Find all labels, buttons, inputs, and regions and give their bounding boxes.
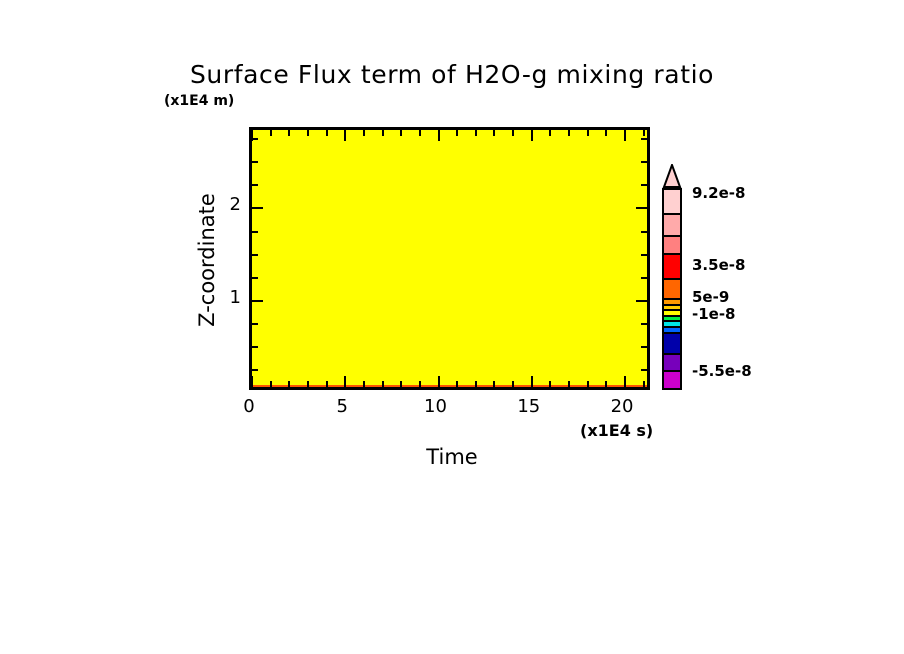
x-tick-top (512, 130, 514, 136)
y-tick-right (641, 277, 647, 279)
y-tick-major (252, 300, 263, 302)
x-tick-minor (382, 381, 384, 387)
y-tick-right (641, 323, 647, 325)
x-tick-top (456, 130, 458, 136)
colorbar-tick-label: 3.5e-8 (692, 256, 745, 274)
x-tick-major (438, 376, 440, 387)
x-tick-label: 20 (592, 396, 652, 417)
x-tick-major (251, 376, 253, 387)
x-tick-top (475, 130, 477, 136)
colorbar-tick-label: 5e-9 (692, 288, 729, 306)
y-tick-right (636, 207, 647, 209)
plot-area (249, 127, 650, 390)
y-tick-minor (252, 161, 258, 163)
x-tick-top (568, 130, 570, 136)
x-tick-minor (568, 381, 570, 387)
x-tick-label: 15 (499, 396, 559, 417)
y-axis-units-label: (x1E4 m) (164, 93, 234, 109)
x-tick-top (400, 130, 402, 136)
x-tick-major (344, 376, 346, 387)
y-tick-right (641, 369, 647, 371)
y-tick-minor (252, 369, 258, 371)
colorbar-tick-label: 9.2e-8 (692, 184, 745, 202)
y-tick-right (641, 254, 647, 256)
x-axis-units-label: (x1E4 s) (580, 421, 653, 440)
y-tick-right (641, 231, 647, 233)
x-tick-top (344, 130, 346, 141)
x-tick-minor (363, 381, 365, 387)
x-tick-top (624, 130, 626, 141)
x-tick-top (382, 130, 384, 136)
x-tick-minor (493, 381, 495, 387)
colorbar-arrow-icon (662, 164, 682, 188)
x-tick-major (531, 376, 533, 387)
y-tick-minor (252, 184, 258, 186)
x-tick-top (531, 130, 533, 141)
x-tick-minor (307, 381, 309, 387)
x-tick-top (419, 130, 421, 136)
colorbar-bands (662, 188, 682, 390)
colorbar-band (664, 280, 680, 300)
x-tick-minor (549, 381, 551, 387)
x-tick-minor (419, 381, 421, 387)
x-tick-top (326, 130, 328, 136)
x-tick-top (605, 130, 607, 136)
x-tick-label: 0 (219, 396, 279, 417)
colorbar-band (664, 255, 680, 280)
y-axis-title-text: Z-coordinate (196, 160, 218, 360)
x-tick-minor (326, 381, 328, 387)
x-tick-label: 10 (406, 396, 466, 417)
x-tick-top (643, 130, 645, 136)
colorbar-band (664, 372, 680, 388)
x-tick-minor (605, 381, 607, 387)
y-tick-minor (252, 254, 258, 256)
x-tick-minor (475, 381, 477, 387)
page-title: Surface Flux term of H2O-g mixing ratio (0, 60, 904, 89)
plot-canvas: Surface Flux term of H2O-g mixing ratio … (0, 0, 904, 654)
x-tick-top (438, 130, 440, 141)
colorbar-band (664, 215, 680, 237)
colorbar (662, 164, 682, 390)
y-tick-major (252, 207, 263, 209)
colorbar-band (664, 355, 680, 371)
x-tick-minor (512, 381, 514, 387)
y-axis-title: Z-coordinate (196, 160, 220, 360)
x-tick-minor (643, 381, 645, 387)
colorbar-band (664, 334, 680, 356)
x-tick-top (493, 130, 495, 136)
x-tick-minor (270, 381, 272, 387)
y-tick-minor (252, 277, 258, 279)
x-tick-major (624, 376, 626, 387)
contour-field (252, 130, 647, 387)
x-tick-minor (400, 381, 402, 387)
y-tick-minor (252, 346, 258, 348)
x-tick-minor (456, 381, 458, 387)
y-tick-minor (252, 323, 258, 325)
x-tick-top (549, 130, 551, 136)
y-tick-right (641, 161, 647, 163)
y-tick-right (641, 138, 647, 140)
x-tick-top (270, 130, 272, 136)
colorbar-tick-label: -1e-8 (692, 305, 736, 323)
colorbar-band (664, 190, 680, 215)
x-tick-top (587, 130, 589, 136)
y-tick-minor (252, 231, 258, 233)
y-tick-right (641, 184, 647, 186)
y-tick-right (641, 346, 647, 348)
x-tick-minor (288, 381, 290, 387)
x-tick-minor (587, 381, 589, 387)
colorbar-band (664, 237, 680, 256)
colorbar-tick-label: -5.5e-8 (692, 362, 752, 380)
x-axis-title: Time (0, 445, 904, 469)
x-tick-label: 5 (312, 396, 372, 417)
x-tick-top (307, 130, 309, 136)
y-tick-minor (252, 138, 258, 140)
y-tick-right (636, 300, 647, 302)
x-tick-top (288, 130, 290, 136)
x-tick-top (363, 130, 365, 136)
